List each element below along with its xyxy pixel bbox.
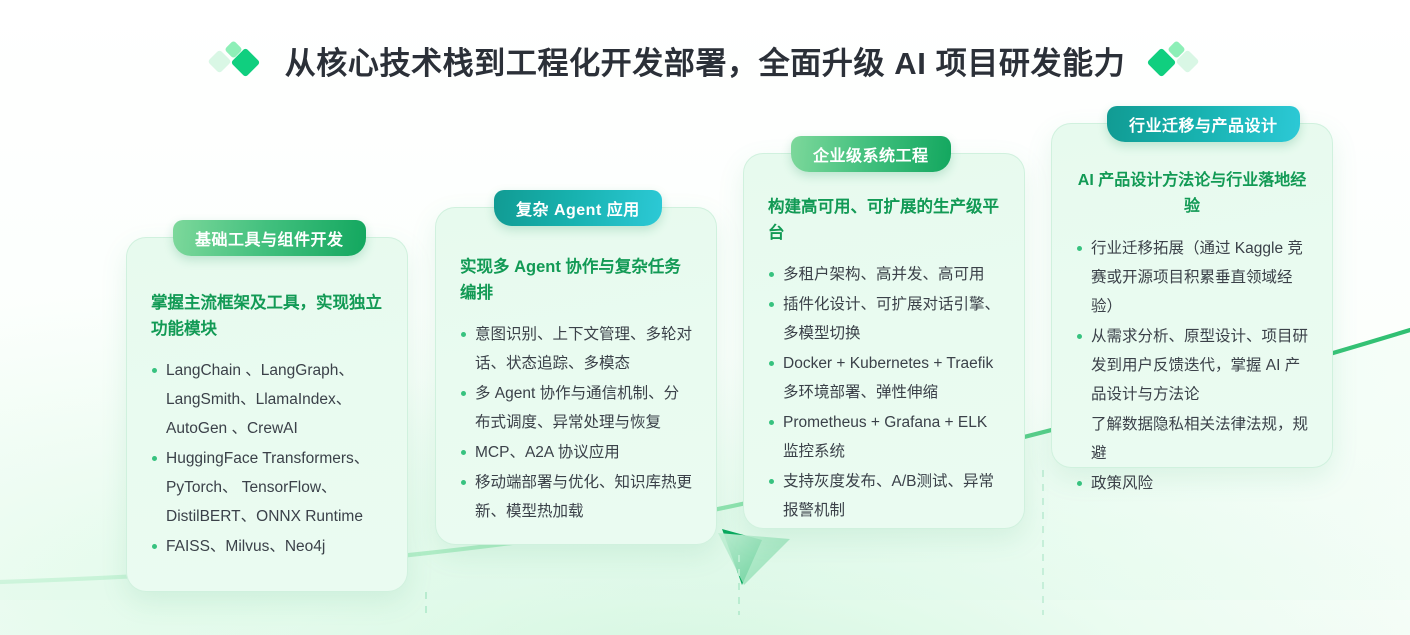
stage-card-1-badge: 基础工具与组件开发 [173,220,366,256]
diamond-cluster-right-icon [1151,41,1199,79]
list-item: Docker + Kubernetes + Traefik 多环境部署、弹性伸缩 [768,349,1000,407]
diamond-cluster-left-icon [211,41,259,79]
page-title: 从核心技术栈到工程化开发部署，全面升级 AI 项目研发能力 [285,38,1126,83]
bullet-dot-icon [461,332,466,337]
list-item-text: 意图识别、上下文管理、多轮对话、状态追踪、多模态 [475,326,692,372]
bullet-dot-icon [461,480,466,485]
stage-card-4[interactable]: 行业迁移与产品设计 AI 产品设计方法论与行业落地经验 行业迁移拓展（通过 Ka… [1051,123,1333,468]
list-item: Prometheus + Grafana + ELK 监控系统 [768,408,1000,466]
bullet-dot-icon [461,391,466,396]
stage-card-2-badge: 复杂 Agent 应用 [494,190,662,226]
list-item-text: 行业迁移拓展（通过 Kaggle 竞赛或开源项目积累垂直领域经验） [1091,240,1303,315]
bullet-dot-icon [769,302,774,307]
bullet-dot-icon [1077,481,1082,486]
stage-card-4-subtitle: AI 产品设计方法论与行业落地经验 [1076,168,1308,220]
list-item: 移动端部署与优化、知识库热更新、模型热加载 [460,468,692,526]
list-item-text: LangChain 、LangGraph、LangSmith、LlamaInde… [166,362,354,437]
list-item-text: 支持灰度发布、A/B测试、异常报警机制 [783,473,994,519]
bullet-dot-icon [152,544,157,549]
list-item: FAISS、Milvus、Neo4j [151,532,383,561]
stage-card-2-body: 实现多 Agent 协作与复杂任务编排 意图识别、上下文管理、多轮对话、状态追踪… [436,254,716,527]
list-item: 政策风险 [1076,469,1308,498]
stage-card-3-body: 构建高可用、可扩展的生产级平台 多租户架构、高并发、高可用 插件化设计、可扩展对… [744,194,1024,526]
stage-card-3[interactable]: 企业级系统工程 构建高可用、可扩展的生产级平台 多租户架构、高并发、高可用 插件… [743,153,1025,529]
bullet-dot-icon [769,479,774,484]
list-item: LangChain 、LangGraph、LangSmith、LlamaInde… [151,356,383,443]
list-item: MCP、A2A 协议应用 [460,438,692,467]
list-item-text: MCP、A2A 协议应用 [475,444,620,461]
list-item-text: FAISS、Milvus、Neo4j [166,538,325,555]
stage-card-1[interactable]: 基础工具与组件开发 掌握主流框架及工具，实现独立功能模块 LangChain 、… [126,237,408,592]
list-item: 多租户架构、高并发、高可用 [768,260,1000,289]
stage-card-2-subtitle: 实现多 Agent 协作与复杂任务编排 [460,254,692,306]
bullet-dot-icon [769,272,774,277]
list-item-text: 政策风险 [1091,475,1153,492]
stage-card-3-bullet-list: 多租户架构、高并发、高可用 插件化设计、可扩展对话引擎、多模型切换 Docker… [768,260,1000,525]
bullet-dot-icon [152,456,157,461]
bullet-dot-icon [1077,334,1082,339]
list-item-text: 了解数据隐私相关法律法规，规避 [1091,416,1308,462]
bullet-dot-icon [769,361,774,366]
list-item: 多 Agent 协作与通信机制、分布式调度、异常处理与恢复 [460,379,692,437]
list-item: 行业迁移拓展（通过 Kaggle 竞赛或开源项目积累垂直领域经验） [1076,234,1308,321]
list-item: 支持灰度发布、A/B测试、异常报警机制 [768,467,1000,525]
stage-card-3-subtitle: 构建高可用、可扩展的生产级平台 [768,194,1000,246]
list-item: 了解数据隐私相关法律法规，规避 [1076,410,1308,468]
stage-card-1-body: 掌握主流框架及工具，实现独立功能模块 LangChain 、LangGraph、… [127,290,407,562]
stage-card-1-subtitle: 掌握主流框架及工具，实现独立功能模块 [151,290,383,342]
list-item-text: Docker + Kubernetes + Traefik 多环境部署、弹性伸缩 [783,355,993,401]
list-item: 从需求分析、原型设计、项目研发到用户反馈迭代，掌握 AI 产品设计与方法论 [1076,322,1308,409]
stage-card-3-badge: 企业级系统工程 [791,136,951,172]
stage-card-4-body: AI 产品设计方法论与行业落地经验 行业迁移拓展（通过 Kaggle 竞赛或开源… [1052,168,1332,499]
list-item: 意图识别、上下文管理、多轮对话、状态追踪、多模态 [460,320,692,378]
list-item-text: HuggingFace Transformers、PyTorch、 Tensor… [166,450,369,525]
list-item-text: 从需求分析、原型设计、项目研发到用户反馈迭代，掌握 AI 产品设计与方法论 [1091,328,1308,403]
arrow-marker-dark [722,529,762,585]
list-item-text: 移动端部署与优化、知识库热更新、模型热加载 [475,474,692,520]
stage-card-4-bullet-list: 行业迁移拓展（通过 Kaggle 竞赛或开源项目积累垂直领域经验） 从需求分析、… [1076,234,1308,498]
list-item-text: 多 Agent 协作与通信机制、分布式调度、异常处理与恢复 [475,385,679,431]
bullet-dot-icon [461,450,466,455]
list-item-text: Prometheus + Grafana + ELK 监控系统 [783,414,987,460]
bullet-dot-icon [769,420,774,425]
page-title-row: 从核心技术栈到工程化开发部署，全面升级 AI 项目研发能力 [0,34,1410,86]
stage-card-1-bullet-list: LangChain 、LangGraph、LangSmith、LlamaInde… [151,356,383,561]
stage-card-4-badge: 行业迁移与产品设计 [1107,106,1300,142]
bullet-dot-icon [1077,246,1082,251]
list-item-text: 多租户架构、高并发、高可用 [783,266,985,283]
stage-card-2[interactable]: 复杂 Agent 应用 实现多 Agent 协作与复杂任务编排 意图识别、上下文… [435,207,717,545]
stage-card-2-bullet-list: 意图识别、上下文管理、多轮对话、状态追踪、多模态 多 Agent 协作与通信机制… [460,320,692,526]
list-item: HuggingFace Transformers、PyTorch、 Tensor… [151,444,383,531]
arrow-marker-light [718,533,790,585]
bullet-dot-icon [152,368,157,373]
list-item: 插件化设计、可扩展对话引擎、多模型切换 [768,290,1000,348]
list-item-text: 插件化设计、可扩展对话引擎、多模型切换 [783,296,1000,342]
